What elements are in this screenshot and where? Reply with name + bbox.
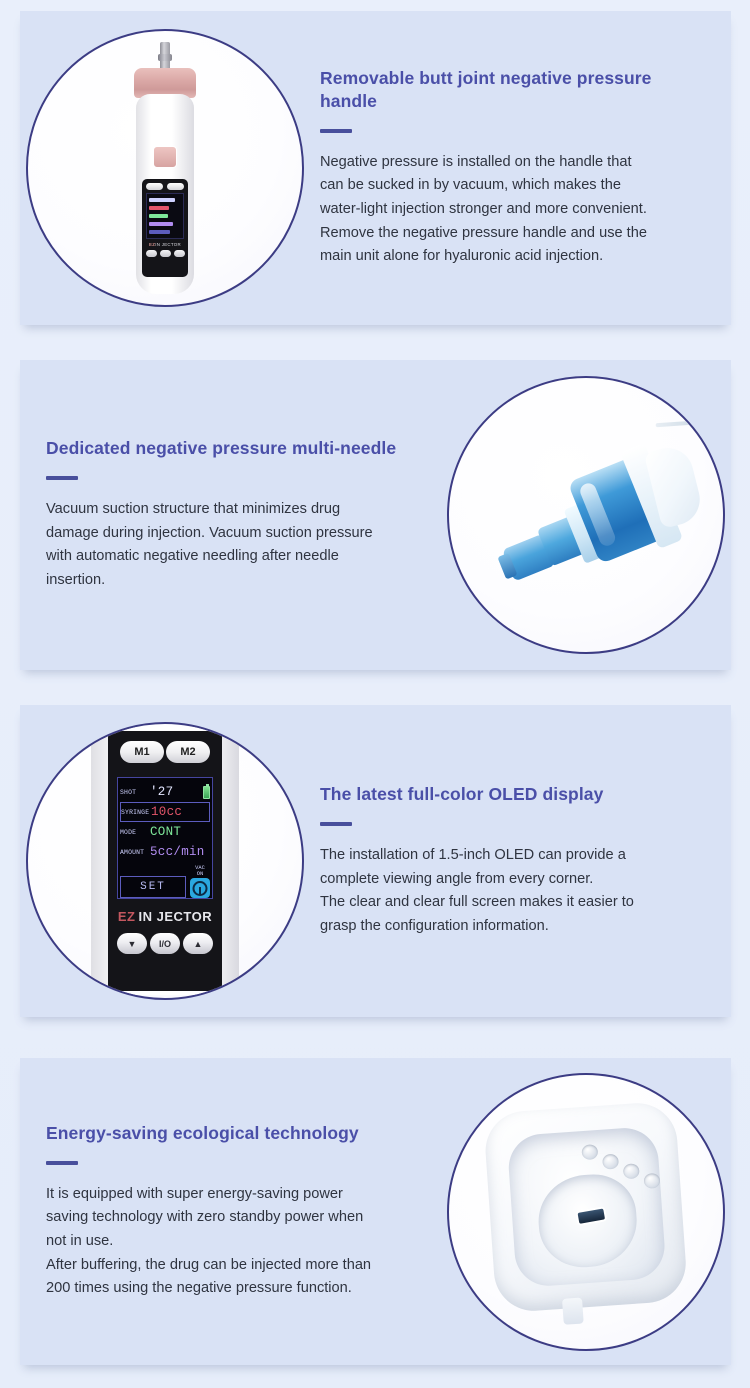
body-line: The clear and clear full screen makes it… — [320, 891, 703, 915]
text-block-oled-display: The latest full-color OLED display The i… — [310, 783, 731, 938]
vacuum-status: VAC ON — [190, 865, 210, 898]
feature-body: Negative pressure is installed on the ha… — [320, 151, 703, 269]
oled-value-amount: 5cc/min — [150, 845, 205, 859]
oled-row-mode: MODE CONT — [120, 822, 210, 842]
product-feature-page: EZIN JECTOR Removable butt joint negativ… — [0, 0, 750, 1388]
brand-name: IN JECTOR — [139, 909, 213, 924]
needle-pin — [656, 420, 708, 428]
feature-heading: Energy-saving ecological technology — [46, 1122, 431, 1145]
indicator-light-3 — [623, 1163, 640, 1179]
heading-divider — [46, 476, 78, 480]
heading-divider — [320, 822, 352, 826]
vacuum-label-line2: ON — [190, 871, 210, 877]
body-line: The installation of 1.5-inch OLED can pr… — [320, 844, 703, 868]
injector-oled-screen — [146, 193, 184, 239]
circle-image-cradle — [447, 1073, 725, 1351]
feature-card-multi-needle: Dedicated negative pressure multi-needle… — [20, 360, 731, 670]
oled-line-set — [149, 230, 170, 234]
indicator-light-1 — [581, 1144, 598, 1160]
feature-card-energy-saving: Energy-saving ecological technology It i… — [20, 1058, 731, 1365]
body-line: with automatic negative needling after n… — [46, 545, 431, 569]
indicator-light-2 — [602, 1153, 619, 1169]
vacuum-icon — [190, 878, 210, 898]
body-line: complete viewing angle from every corner… — [320, 868, 703, 892]
oled-line-mode — [149, 214, 168, 218]
feature-heading: Removable butt joint negative pressure h… — [320, 67, 703, 113]
body-line: can be sucked in by vacuum, which makes … — [320, 174, 703, 198]
oled-row-shot: SHOT '27 — [120, 782, 210, 802]
injector-control-panel: EZIN JECTOR — [142, 179, 188, 277]
injector-memory-keys — [145, 183, 185, 190]
text-block-removable-handle: Removable butt joint negative pressure h… — [310, 67, 731, 269]
feature-heading: The latest full-color OLED display — [320, 783, 703, 806]
injector-trigger-button — [153, 146, 177, 168]
brand-name: IN JECTOR — [155, 242, 181, 247]
handheld-injector-illustration: EZIN JECTOR — [105, 42, 225, 294]
oled-value-mode: CONT — [150, 825, 181, 839]
oled-label-amount: AMOUNT — [120, 849, 150, 856]
injector-m1-key — [146, 183, 163, 190]
oled-line-syringe — [149, 206, 169, 210]
photo-frame-oled-display: M1 M2 SHOT '27 SYRINGE — [20, 705, 310, 1017]
body-line: not in use. — [46, 1230, 431, 1254]
photo-frame-removable-handle: EZIN JECTOR — [20, 11, 310, 325]
injector-power-key — [160, 250, 171, 257]
oled-row-amount: AMOUNT 5cc/min — [120, 842, 210, 862]
device-brand-mark: EZIN JECTOR — [116, 909, 214, 924]
injector-nozzle-tip — [160, 42, 170, 70]
body-line: It is equipped with super energy-saving … — [46, 1183, 431, 1207]
body-line: insertion. — [46, 569, 431, 593]
body-line: grasp the configuration information. — [320, 915, 703, 939]
up-arrow-key[interactable]: ▲ — [183, 933, 213, 954]
circle-image-injector: EZIN JECTOR — [26, 29, 304, 307]
m1-key[interactable]: M1 — [120, 741, 164, 763]
memory-key-row: M1 M2 — [116, 741, 214, 763]
body-line: Remove the negative pressure handle and … — [320, 222, 703, 246]
text-block-multi-needle: Dedicated negative pressure multi-needle… — [20, 437, 441, 592]
down-arrow-key[interactable]: ▼ — [117, 933, 147, 954]
body-line: damage during injection. Vacuum suction … — [46, 522, 431, 546]
oled-value-syringe: 10cc — [151, 805, 182, 819]
feature-heading: Dedicated negative pressure multi-needle — [46, 437, 431, 460]
circle-image-oled: M1 M2 SHOT '27 SYRINGE — [26, 722, 304, 1000]
body-line: 200 times using the negative pressure fu… — [46, 1277, 431, 1301]
oled-value-shot: '27 — [150, 785, 173, 799]
cradle-foot — [562, 1297, 584, 1324]
feature-body: It is equipped with super energy-saving … — [46, 1183, 431, 1301]
oled-label-shot: SHOT — [120, 789, 150, 796]
oled-line-shot — [149, 198, 175, 202]
multi-needle-illustration — [457, 397, 715, 633]
injector-m2-key — [167, 183, 184, 190]
oled-control-panel-illustration: M1 M2 SHOT '27 SYRINGE — [76, 727, 254, 995]
text-block-energy-saving: Energy-saving ecological technology It i… — [20, 1122, 441, 1301]
circle-image-needle — [447, 376, 725, 654]
body-line: saving technology with zero standby powe… — [46, 1206, 431, 1230]
indicator-light-4 — [643, 1172, 660, 1188]
oled-screen: SHOT '27 SYRINGE 10cc MODE — [117, 777, 213, 899]
body-line: Vacuum suction structure that minimizes … — [46, 498, 431, 522]
device-front-face: M1 M2 SHOT '27 SYRINGE — [108, 731, 222, 991]
oled-line-amount — [149, 222, 173, 226]
injector-control-keys — [145, 250, 185, 257]
brand-prefix: EZ — [118, 909, 136, 924]
photo-frame-energy-saving — [441, 1058, 731, 1365]
power-io-key[interactable]: I/O — [150, 933, 180, 954]
injector-up-key — [174, 250, 185, 257]
feature-body: Vacuum suction structure that minimizes … — [46, 498, 431, 593]
injector-brand-mark: EZIN JECTOR — [145, 242, 185, 247]
heading-divider — [46, 1161, 78, 1165]
body-line: main unit alone for hyaluronic acid inje… — [320, 245, 703, 269]
heading-divider — [320, 129, 352, 133]
body-line: After buffering, the drug can be injecte… — [46, 1254, 431, 1278]
m2-key[interactable]: M2 — [166, 741, 210, 763]
control-key-row: ▼ I/O ▲ — [116, 933, 214, 954]
injector-down-key — [146, 250, 157, 257]
feature-card-oled-display: M1 M2 SHOT '27 SYRINGE — [20, 705, 731, 1017]
charging-cradle-illustration — [475, 1094, 698, 1330]
feature-card-removable-handle: EZIN JECTOR Removable butt joint negativ… — [20, 11, 731, 325]
oled-label-syringe: SYRINGE — [121, 809, 151, 816]
oled-row-syringe: SYRINGE 10cc — [120, 802, 210, 822]
feature-body: The installation of 1.5-inch OLED can pr… — [320, 844, 703, 939]
set-button[interactable]: SET — [120, 876, 186, 898]
battery-icon — [203, 786, 210, 799]
photo-frame-multi-needle — [441, 360, 731, 670]
body-line: water-light injection stronger and more … — [320, 198, 703, 222]
oled-label-mode: MODE — [120, 829, 150, 836]
oled-bottom-row: SET VAC ON — [120, 865, 210, 898]
body-line: Negative pressure is installed on the ha… — [320, 151, 703, 175]
